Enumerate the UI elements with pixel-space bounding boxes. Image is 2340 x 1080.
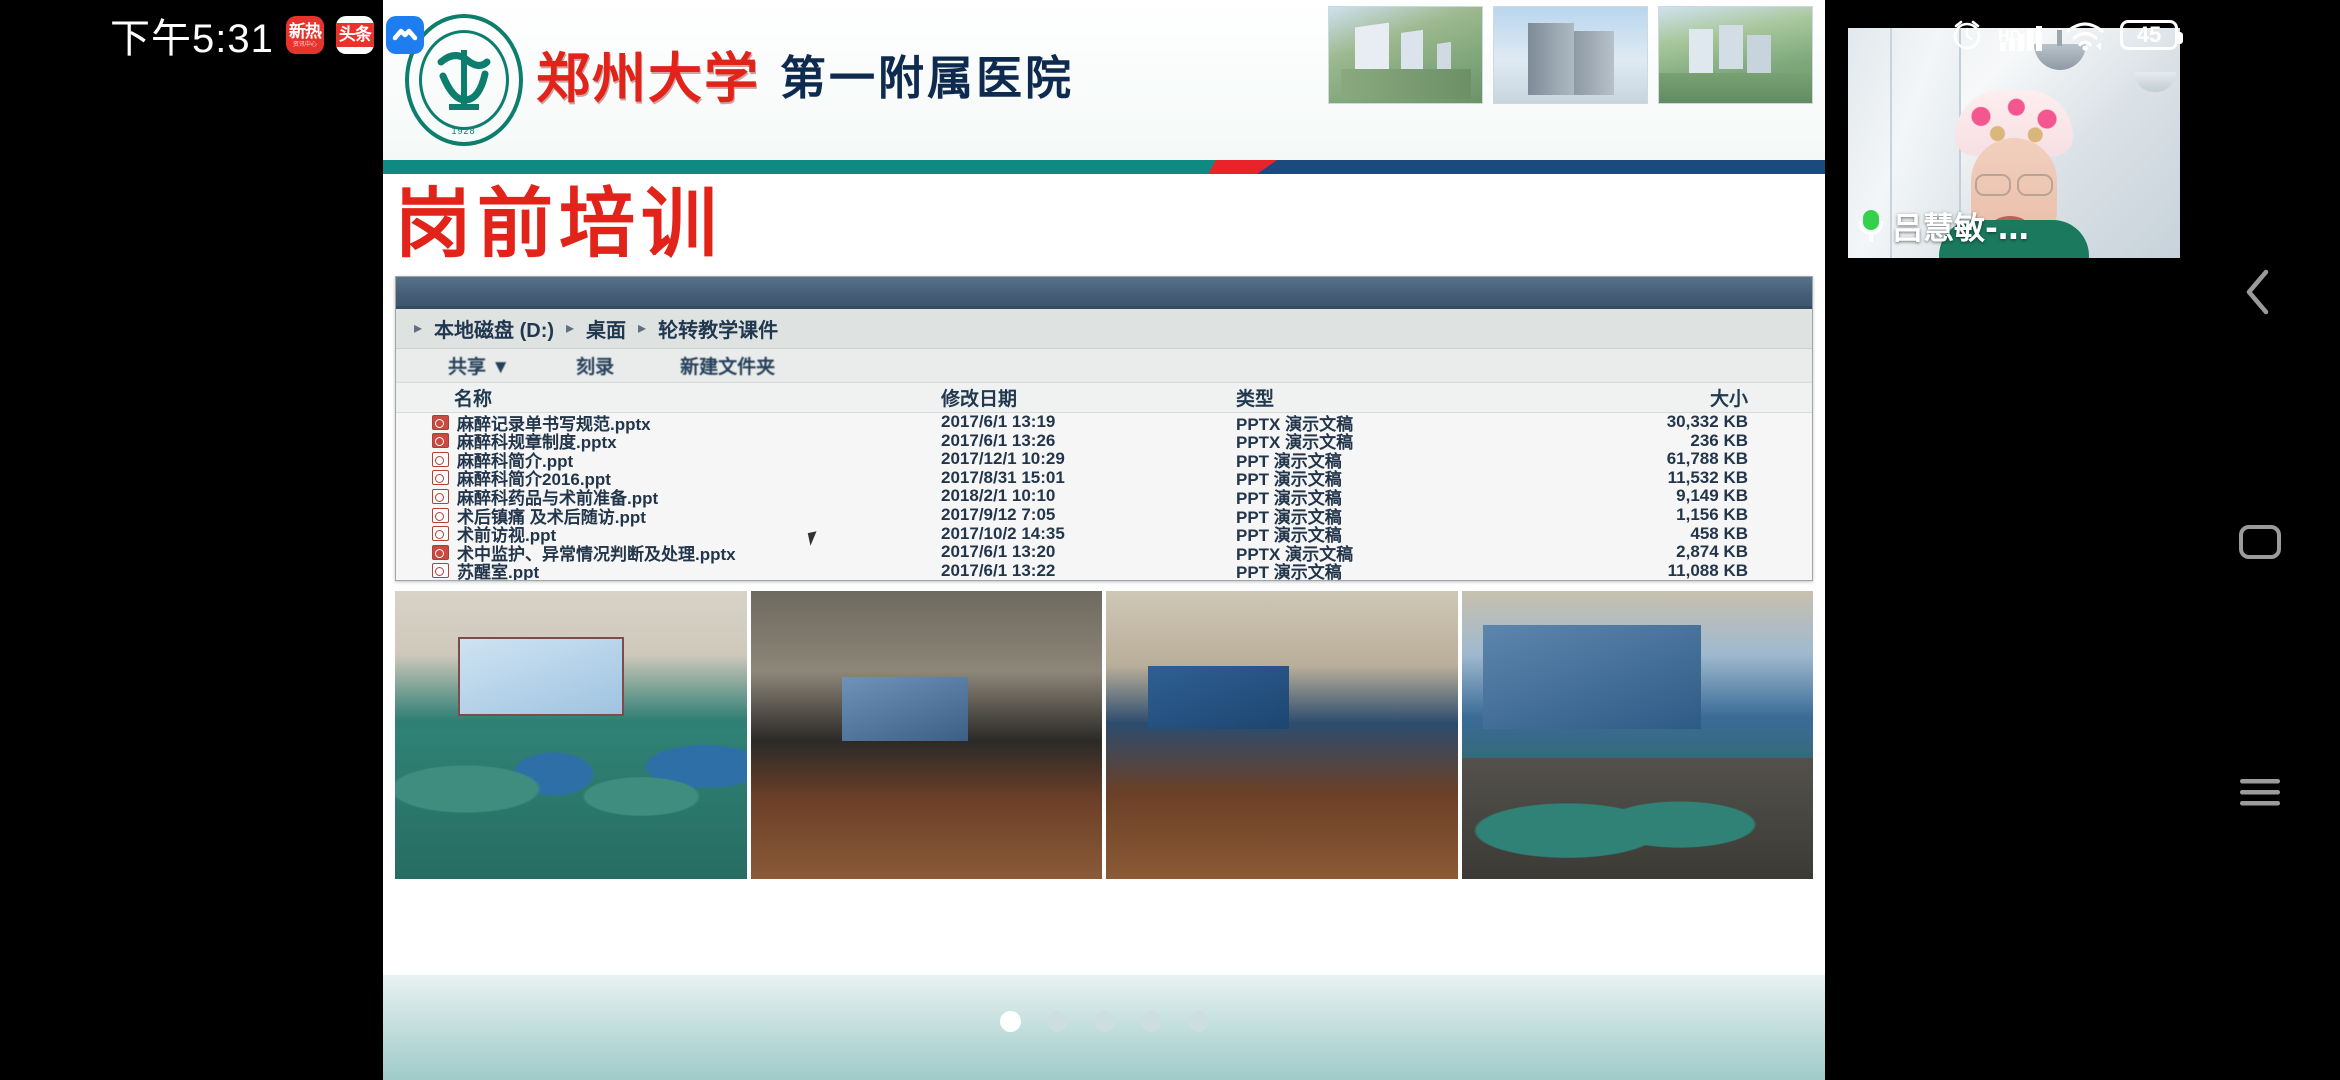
xinre-icon-sublabel: 资讯中心 [293, 42, 317, 48]
file-size: 2,874 KB [1536, 542, 1766, 562]
slide-header: 1928 郑州大学 第一附属医院 [383, 0, 1825, 160]
file-size: 11,532 KB [1536, 468, 1766, 488]
file-date: 2017/9/12 7:05 [941, 505, 1236, 525]
explorer-toolbar: 共享 ▼ 刻录 新建文件夹 [396, 349, 1812, 383]
header-accent-bar [383, 160, 1825, 174]
file-size: 61,788 KB [1536, 449, 1766, 469]
table-row[interactable]: 苏醒室.ppt2017/6/1 13:22PPT 演示文稿11,088 KB [396, 562, 1812, 581]
column-header-type: 类型 [1236, 384, 1536, 411]
breadcrumb-item-2: 轮转教学课件 [658, 314, 778, 343]
file-type: PPT 演示文稿 [1236, 558, 1536, 580]
file-date: 2017/6/1 13:22 [941, 561, 1236, 581]
toolbar-burn: 刻录 [576, 352, 614, 379]
navigation-rail [2180, 0, 2340, 1080]
file-date: 2017/6/1 13:20 [941, 542, 1236, 562]
training-photo-1 [395, 591, 747, 879]
slide-title: 岗前培训 [383, 174, 1825, 270]
header-photo-row [1328, 6, 1813, 104]
pagination-dot[interactable] [1141, 1011, 1162, 1032]
training-photo-2 [751, 591, 1103, 879]
xinre-app-icon: 新热 资讯中心 [286, 16, 324, 54]
video-ceiling-lamp [2034, 44, 2086, 70]
slide-footer [383, 975, 1825, 1080]
mic-on-icon [1858, 209, 1884, 243]
toutiao-app-icon: 头条 [336, 16, 374, 54]
column-header-date: 修改日期 [941, 384, 1236, 411]
training-photo-3 [1106, 591, 1458, 879]
file-date: 2017/6/1 13:19 [941, 412, 1236, 432]
breadcrumb-arrow-icon: ▸ [566, 318, 574, 338]
file-size: 30,332 KB [1536, 412, 1766, 432]
participant-video-tile[interactable]: 吕慧敏-… [1848, 28, 2180, 258]
participant-name: 吕慧敏-… [1892, 203, 2029, 248]
home-square-icon[interactable] [2228, 510, 2292, 574]
pagination-dot[interactable] [1047, 1011, 1068, 1032]
explorer-file-list: 麻醉记录单书写规范.pptx2017/6/1 13:19PPTX 演示文稿30,… [396, 413, 1812, 580]
header-photo-3 [1658, 6, 1813, 104]
pagination-dot[interactable] [1188, 1011, 1209, 1032]
powerpoint-file-icon [432, 563, 449, 578]
file-size: 1,156 KB [1536, 505, 1766, 525]
header-photo-2 [1493, 6, 1648, 104]
seal-year: 1928 [401, 126, 526, 136]
participant-label: 吕慧敏-… [1858, 203, 2029, 248]
video-side-lamp [2134, 72, 2176, 92]
explorer-column-headers: 名称 修改日期 类型 大小 [396, 383, 1812, 413]
toutiao-icon-label: 头条 [336, 23, 374, 47]
org-name-sub: 第一附属医院 [780, 55, 1074, 101]
file-size: 9,149 KB [1536, 486, 1766, 506]
file-date: 2018/2/1 10:10 [941, 486, 1236, 506]
explorer-screenshot: ▸ 本地磁盘 (D:) ▸ 桌面 ▸ 轮转教学课件 共享 ▼ 刻录 新建文件夹 … [395, 276, 1813, 581]
column-header-size: 大小 [1536, 384, 1766, 411]
explorer-titlebar [396, 277, 1812, 309]
status-clock: 下午5:31 [110, 6, 274, 64]
header-photo-1 [1328, 6, 1483, 104]
toolbar-new-folder: 新建文件夹 [680, 352, 775, 379]
breadcrumb-item-1: 桌面 [586, 314, 626, 343]
file-date: 2017/8/31 15:01 [941, 468, 1236, 488]
file-name: 苏醒室.ppt [457, 558, 539, 580]
file-size: 11,088 KB [1536, 561, 1766, 581]
training-photo-4 [1462, 591, 1814, 879]
breadcrumb-arrow-icon: ▸ [414, 318, 422, 338]
hospital-seal-icon: 1928 [401, 8, 526, 148]
file-date: 2017/6/1 13:26 [941, 431, 1236, 451]
seal-glyph-icon [431, 42, 497, 118]
pagination-dot[interactable] [1000, 1011, 1021, 1032]
file-size: 458 KB [1536, 524, 1766, 544]
file-size: 236 KB [1536, 431, 1766, 451]
pagination-dots[interactable] [383, 1011, 1825, 1032]
breadcrumb-arrow-icon: ▸ [638, 318, 646, 338]
pagination-dot[interactable] [1094, 1011, 1115, 1032]
presentation-slide[interactable]: 1928 郑州大学 第一附属医院 岗前培训 ▸ 本地磁盘 (D:) ▸ 桌面 ▸… [383, 0, 1825, 1080]
hospital-logo-block: 1928 郑州大学 第一附属医院 [401, 8, 1074, 148]
org-name-main: 郑州大学 [536, 51, 760, 105]
column-header-name: 名称 [396, 384, 941, 411]
back-chevron-icon[interactable] [2228, 260, 2292, 324]
menu-hamburger-icon[interactable] [2228, 760, 2292, 824]
file-date: 2017/12/1 10:29 [941, 449, 1236, 469]
file-date: 2017/10/2 14:35 [941, 524, 1236, 544]
explorer-breadcrumb: ▸ 本地磁盘 (D:) ▸ 桌面 ▸ 轮转教学课件 [396, 309, 1812, 349]
training-photo-strip [395, 591, 1813, 879]
xinre-icon-label: 新热 [289, 23, 321, 40]
status-bar-left: 下午5:31 新热 资讯中心 头条 [110, 0, 424, 70]
breadcrumb-item-0: 本地磁盘 (D:) [434, 314, 554, 343]
toolbar-share: 共享 ▼ [448, 352, 510, 379]
